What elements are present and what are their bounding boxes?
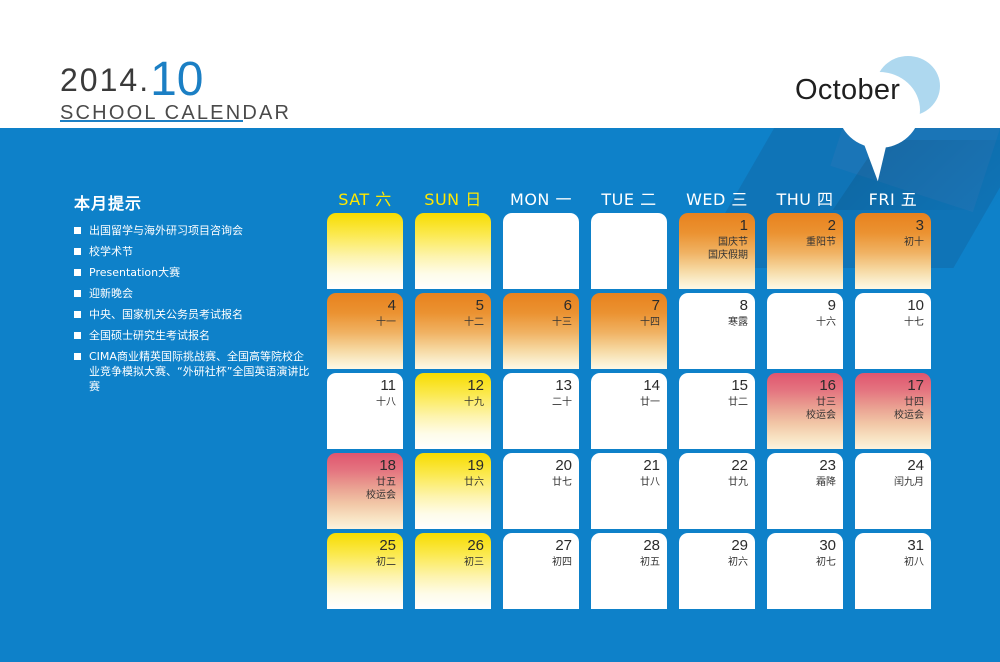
calendar-grid: SAT 六SUN 日MON 一TUE 二WED 三THU 四FRI 五 1国庆节… — [327, 186, 931, 613]
day-sublabel: 十二 — [464, 316, 484, 329]
day-sublabel: 初七 — [816, 556, 836, 569]
day-sublabel: 十六 — [816, 316, 836, 329]
calendar-day-cell[interactable]: 1国庆节国庆假期 — [679, 213, 755, 289]
day-of-week-header: SUN 日 — [415, 186, 491, 210]
calendar-day-cell[interactable]: 24闰九月 — [855, 453, 931, 529]
monthly-notes-panel: 本月提示 出国留学与海外研习项目咨询会校学术节Presentation大赛迎新晚… — [74, 190, 314, 400]
day-number: 28 — [643, 537, 660, 554]
day-number: 14 — [643, 377, 660, 394]
note-item: 中央、国家机关公务员考试报名 — [74, 307, 314, 322]
day-number: 16 — [819, 377, 836, 394]
calendar-day-cell[interactable]: 10十七 — [855, 293, 931, 369]
day-sublabel: 初二 — [376, 556, 396, 569]
calendar-weeks: 1国庆节国庆假期2重阳节3初十4十一5十二6十三7十四8寒露9十六10十七11十… — [327, 213, 931, 609]
day-sublabel: 初八 — [904, 556, 924, 569]
note-item-label: 全国硕士研究生考试报名 — [89, 328, 314, 343]
day-number: 31 — [907, 537, 924, 554]
calendar-day-cell[interactable]: 28初五 — [591, 533, 667, 609]
note-item: CIMA商业精英国际挑战赛、全国高等院校企业竞争模拟大赛、“外研社杯”全国英语演… — [74, 349, 314, 394]
day-sublabel: 廿八 — [640, 476, 660, 489]
calendar-day-cell[interactable]: 4十一 — [327, 293, 403, 369]
day-of-week-header: WED 三 — [679, 186, 755, 210]
day-number: 3 — [916, 217, 924, 234]
day-sublabel: 廿四 — [904, 396, 924, 409]
day-event-label: 校运会 — [366, 489, 396, 502]
calendar-week-row: 4十一5十二6十三7十四8寒露9十六10十七 — [327, 293, 931, 369]
brand-underline — [60, 120, 243, 122]
day-number: 15 — [731, 377, 748, 394]
brand-date-line: 2014.10 — [60, 52, 291, 100]
day-number: 27 — [555, 537, 572, 554]
day-number: 17 — [907, 377, 924, 394]
day-sublabel: 初十 — [904, 236, 924, 249]
day-of-week-header: FRI 五 — [855, 186, 931, 210]
note-item: 全国硕士研究生考试报名 — [74, 328, 314, 343]
notes-list: 出国留学与海外研习项目咨询会校学术节Presentation大赛迎新晚会中央、国… — [74, 223, 314, 394]
day-sublabel: 国庆节 — [718, 236, 748, 249]
month-name-label: October — [795, 74, 900, 107]
day-sublabel: 重阳节 — [806, 236, 836, 249]
day-sublabel: 二十 — [552, 396, 572, 409]
calendar-day-cell[interactable]: 8寒露 — [679, 293, 755, 369]
note-item-label: Presentation大赛 — [89, 265, 314, 280]
calendar-poster: 2014.10 SCHOOL CALENDAR October 本月提示 出国留… — [0, 0, 1000, 662]
brand-year: 2014. — [60, 62, 150, 98]
calendar-day-cell[interactable]: 20廿七 — [503, 453, 579, 529]
square-bullet-icon — [74, 353, 81, 360]
square-bullet-icon — [74, 290, 81, 297]
calendar-day-cell[interactable]: 16廿三校运会 — [767, 373, 843, 449]
note-item: Presentation大赛 — [74, 265, 314, 280]
day-number: 11 — [380, 377, 396, 394]
day-sublabel: 廿三 — [816, 396, 836, 409]
day-sublabel: 闰九月 — [894, 476, 924, 489]
day-sublabel: 霜降 — [816, 476, 836, 489]
day-number: 24 — [907, 457, 924, 474]
day-number: 22 — [731, 457, 748, 474]
calendar-day-cell[interactable]: 14廿一 — [591, 373, 667, 449]
day-of-week-header: TUE 二 — [591, 186, 667, 210]
day-event-label: 校运会 — [894, 409, 924, 422]
day-of-week-header: MON 一 — [503, 186, 579, 210]
day-number: 25 — [379, 537, 396, 554]
day-number: 4 — [388, 297, 396, 314]
calendar-day-cell[interactable]: 11十八 — [327, 373, 403, 449]
day-sublabel: 十七 — [904, 316, 924, 329]
day-number: 26 — [467, 537, 484, 554]
calendar-day-cell[interactable]: 25初二 — [327, 533, 403, 609]
note-item-label: 校学术节 — [89, 244, 314, 259]
calendar-day-cell[interactable]: 31初八 — [855, 533, 931, 609]
brand-month-number: 10 — [150, 53, 203, 106]
calendar-day-cell[interactable]: 15廿二 — [679, 373, 755, 449]
square-bullet-icon — [74, 248, 81, 255]
day-event-label: 国庆假期 — [708, 249, 748, 262]
day-number: 10 — [907, 297, 924, 314]
calendar-day-cell[interactable]: 21廿八 — [591, 453, 667, 529]
calendar-week-row: 11十八12十九13二十14廿一15廿二16廿三校运会17廿四校运会 — [327, 373, 931, 449]
day-sublabel: 廿六 — [464, 476, 484, 489]
day-number: 13 — [555, 377, 572, 394]
day-number: 21 — [643, 457, 660, 474]
day-number: 5 — [476, 297, 484, 314]
day-sublabel: 初三 — [464, 556, 484, 569]
square-bullet-icon — [74, 227, 81, 234]
day-sublabel: 廿七 — [552, 476, 572, 489]
day-number: 20 — [555, 457, 572, 474]
note-item-label: 迎新晚会 — [89, 286, 314, 301]
brand-block: 2014.10 SCHOOL CALENDAR — [60, 52, 291, 125]
square-bullet-icon — [74, 311, 81, 318]
day-sublabel: 初六 — [728, 556, 748, 569]
day-of-week-header: SAT 六 — [327, 186, 403, 210]
day-number: 9 — [828, 297, 836, 314]
calendar-day-cell[interactable]: 6十三 — [503, 293, 579, 369]
day-sublabel: 廿五 — [376, 476, 396, 489]
calendar-day-cell[interactable]: 26初三 — [415, 533, 491, 609]
calendar-cell-empty — [415, 213, 491, 289]
calendar-day-cell[interactable]: 18廿五校运会 — [327, 453, 403, 529]
day-sublabel: 廿一 — [640, 396, 660, 409]
square-bullet-icon — [74, 332, 81, 339]
calendar-day-cell[interactable]: 23霜降 — [767, 453, 843, 529]
calendar-day-cell[interactable]: 29初六 — [679, 533, 755, 609]
day-event-label: 校运会 — [806, 409, 836, 422]
day-sublabel: 十八 — [376, 396, 396, 409]
calendar-week-row: 25初二26初三27初四28初五29初六30初七31初八 — [327, 533, 931, 609]
day-number: 2 — [828, 217, 836, 234]
calendar-day-cell[interactable]: 17廿四校运会 — [855, 373, 931, 449]
day-number: 12 — [467, 377, 484, 394]
day-number: 1 — [740, 217, 748, 234]
calendar-week-row: 1国庆节国庆假期2重阳节3初十 — [327, 213, 931, 289]
speech-bubble-white-tail — [861, 133, 894, 182]
calendar-day-cell[interactable]: 13二十 — [503, 373, 579, 449]
day-sublabel: 十一 — [376, 316, 396, 329]
square-bullet-icon — [74, 269, 81, 276]
day-sublabel: 初四 — [552, 556, 572, 569]
day-of-week-header-row: SAT 六SUN 日MON 一TUE 二WED 三THU 四FRI 五 — [327, 186, 931, 210]
day-sublabel: 寒露 — [728, 316, 748, 329]
calendar-day-cell[interactable]: 3初十 — [855, 213, 931, 289]
note-item: 出国留学与海外研习项目咨询会 — [74, 223, 314, 238]
calendar-cell-empty — [327, 213, 403, 289]
day-number: 8 — [740, 297, 748, 314]
note-item-label: 出国留学与海外研习项目咨询会 — [89, 223, 314, 238]
calendar-day-cell[interactable]: 5十二 — [415, 293, 491, 369]
note-item: 校学术节 — [74, 244, 314, 259]
calendar-cell-empty — [591, 213, 667, 289]
note-item: 迎新晚会 — [74, 286, 314, 301]
day-number: 6 — [564, 297, 572, 314]
calendar-day-cell[interactable]: 7十四 — [591, 293, 667, 369]
calendar-week-row: 18廿五校运会19廿六20廿七21廿八22廿九23霜降24闰九月 — [327, 453, 931, 529]
calendar-day-cell[interactable]: 12十九 — [415, 373, 491, 449]
notes-title: 本月提示 — [74, 190, 314, 214]
day-number: 30 — [819, 537, 836, 554]
calendar-cell-empty — [503, 213, 579, 289]
calendar-day-cell[interactable]: 19廿六 — [415, 453, 491, 529]
day-sublabel: 十九 — [464, 396, 484, 409]
day-sublabel: 廿二 — [728, 396, 748, 409]
calendar-day-cell[interactable]: 2重阳节 — [767, 213, 843, 289]
calendar-day-cell[interactable]: 30初七 — [767, 533, 843, 609]
calendar-day-cell[interactable]: 27初四 — [503, 533, 579, 609]
note-item-label: 中央、国家机关公务员考试报名 — [89, 307, 314, 322]
day-number: 19 — [467, 457, 484, 474]
day-sublabel: 十四 — [640, 316, 660, 329]
day-of-week-header: THU 四 — [767, 186, 843, 210]
day-number: 7 — [652, 297, 660, 314]
day-sublabel: 十三 — [552, 316, 572, 329]
note-item-label: CIMA商业精英国际挑战赛、全国高等院校企业竞争模拟大赛、“外研社杯”全国英语演… — [89, 349, 314, 394]
day-number: 29 — [731, 537, 748, 554]
day-sublabel: 廿九 — [728, 476, 748, 489]
day-sublabel: 初五 — [640, 556, 660, 569]
day-number: 18 — [379, 457, 396, 474]
calendar-day-cell[interactable]: 9十六 — [767, 293, 843, 369]
calendar-day-cell[interactable]: 22廿九 — [679, 453, 755, 529]
day-number: 23 — [819, 457, 836, 474]
